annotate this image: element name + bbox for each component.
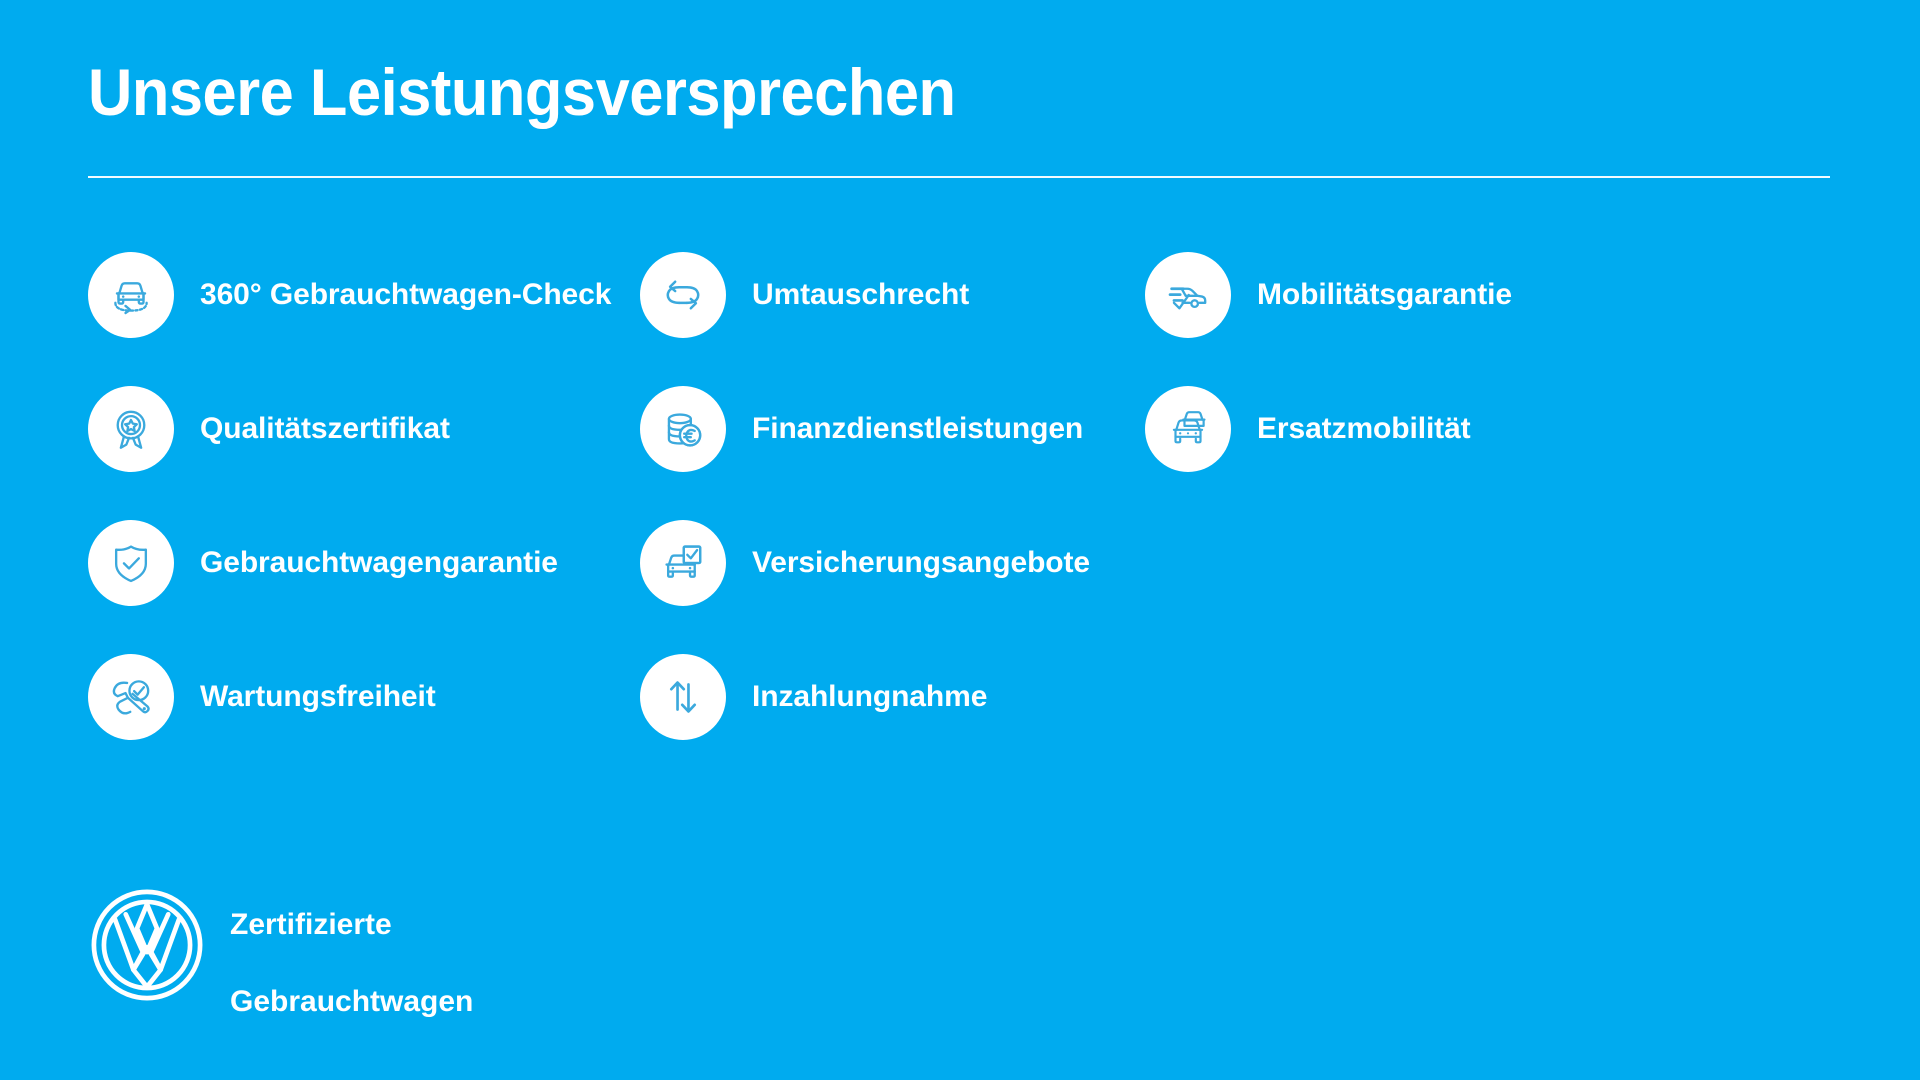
- feature-label: Inzahlungnahme: [752, 680, 987, 715]
- feature-item-ersatzmobilitaet[interactable]: Ersatzmobilität: [1145, 386, 1625, 472]
- feature-label: Ersatzmobilität: [1257, 412, 1471, 447]
- badge-circle: [88, 654, 174, 740]
- shield-check-icon: [106, 538, 156, 588]
- badge-circle: [88, 520, 174, 606]
- footer-text-line-2: Gebrauchtwagen: [230, 985, 473, 1018]
- badge-circle: [640, 654, 726, 740]
- page-title: Unsere Leistungsversprechen: [88, 58, 1710, 127]
- header: Unsere Leistungsversprechen: [88, 58, 1832, 127]
- feature-item-360-check[interactable]: 360° Gebrauchtwagen-Check: [88, 252, 608, 338]
- badge-circle: [640, 520, 726, 606]
- feature-label: Versicherungsangebote: [752, 546, 1090, 581]
- badge-circle: [640, 386, 726, 472]
- feature-label: 360° Gebrauchtwagen-Check: [200, 278, 611, 313]
- badge-circle: [88, 252, 174, 338]
- coins-euro-icon: [658, 404, 708, 454]
- feature-label: Mobilitätsgarantie: [1257, 278, 1512, 313]
- badge-circle: [1145, 386, 1231, 472]
- vw-brand-lockup: Zertifizierte Gebrauchtwagen: [88, 868, 473, 1022]
- feature-item-mobilitaetsgarantie[interactable]: Mobilitätsgarantie: [1145, 252, 1625, 338]
- feature-item-versicherungsangebote[interactable]: Versicherungsangebote: [640, 520, 1140, 606]
- car-checkbox-icon: [658, 538, 708, 588]
- feature-item-gebrauchtwagengarantie[interactable]: Gebrauchtwagengarantie: [88, 520, 608, 606]
- footer-text: Zertifizierte Gebrauchtwagen: [230, 868, 473, 1022]
- feature-column-3: Mobilitätsgarantie: [1145, 252, 1625, 472]
- exchange-arrows-icon: [658, 270, 708, 320]
- badge-circle: [1145, 252, 1231, 338]
- feature-item-qualitaetszertifikat[interactable]: Qualitätszertifikat: [88, 386, 608, 472]
- feature-label: Finanzdienstleistungen: [752, 412, 1083, 447]
- feature-label: Qualitätszertifikat: [200, 412, 450, 447]
- car-360-rotation-icon: [106, 270, 156, 320]
- feature-label: Wartungsfreiheit: [200, 680, 436, 715]
- feature-item-finanzdienstleistungen[interactable]: Finanzdienstleistungen: [640, 386, 1140, 472]
- feature-column-2: Umtauschrecht Finanz: [640, 252, 1140, 740]
- arrows-up-down-icon: [658, 672, 708, 722]
- two-cars-icon: [1163, 404, 1213, 454]
- footer-text-line-1: Zertifizierte: [230, 908, 392, 941]
- title-divider: [88, 176, 1830, 178]
- feature-item-wartungsfreiheit[interactable]: Wartungsfreiheit: [88, 654, 608, 740]
- car-motion-check-icon: [1163, 270, 1213, 320]
- badge-circle: [640, 252, 726, 338]
- volkswagen-logo: [88, 886, 206, 1004]
- award-rosette-star-icon: [106, 404, 156, 454]
- volkswagen-logo-icon: [88, 886, 206, 1004]
- feature-column-1: 360° Gebrauchtwagen-Check Qualitätszerti…: [88, 252, 608, 740]
- leistungsversprechen-slide: Unsere Leistungsversprechen: [0, 0, 1920, 1080]
- feature-item-umtauschrecht[interactable]: Umtauschrecht: [640, 252, 1140, 338]
- feature-item-inzahlungnahme[interactable]: Inzahlungnahme: [640, 654, 1140, 740]
- feature-label: Gebrauchtwagengarantie: [200, 546, 558, 581]
- badge-circle: [88, 386, 174, 472]
- wrench-check-icon: [106, 672, 156, 722]
- feature-label: Umtauschrecht: [752, 278, 969, 313]
